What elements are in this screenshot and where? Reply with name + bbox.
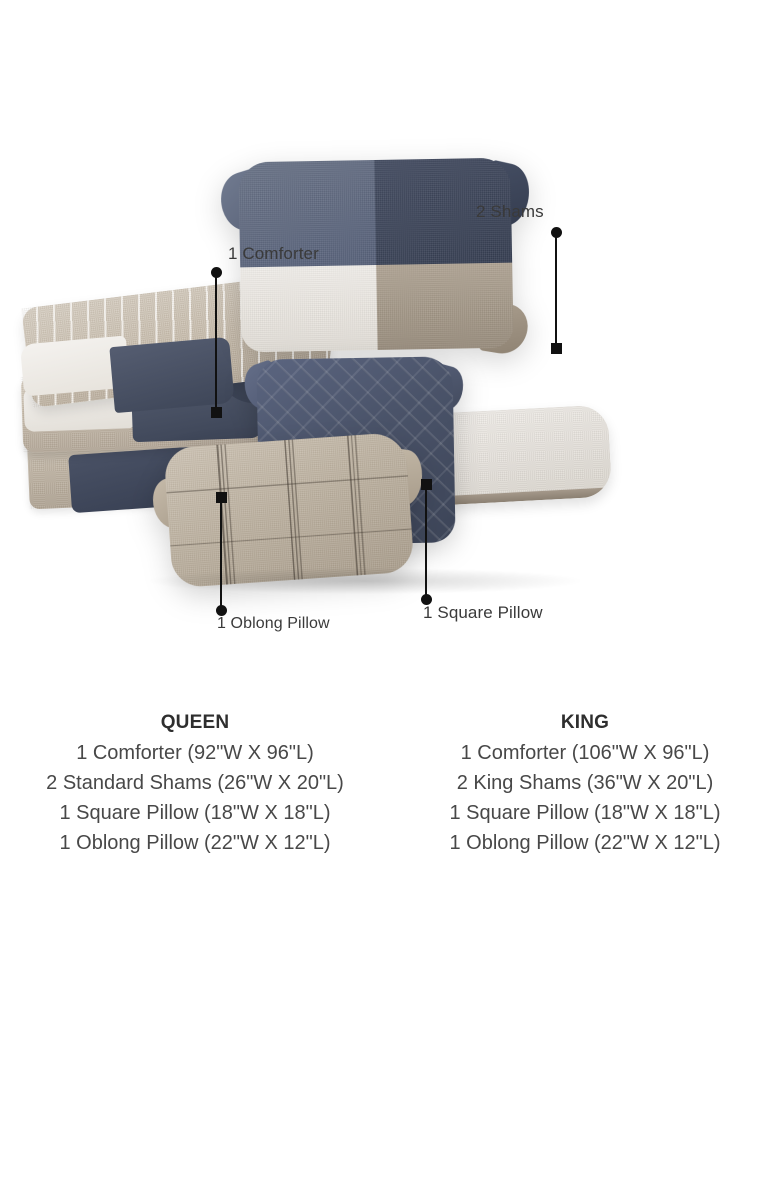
callout-label-comforter: 1 Comforter [228, 244, 319, 264]
leader-line [220, 497, 222, 610]
sham-quadrant-taupe [376, 262, 513, 350]
size-item: 1 Oblong Pillow (22"W X 12"L) [0, 828, 390, 858]
callout-label-shams: 2 Shams [476, 202, 544, 222]
infographic-canvas: 1 Comforter 2 Shams 1 Oblong Pillow 1 Sq… [0, 0, 780, 1196]
size-item: 1 Oblong Pillow (22"W X 12"L) [390, 828, 780, 858]
size-column-queen: QUEEN 1 Comforter (92"W X 96"L) 2 Standa… [0, 712, 390, 858]
callout-label-oblong-pillow: 1 Oblong Pillow [217, 615, 330, 633]
leader-line [555, 232, 557, 348]
callout-square-icon [211, 407, 222, 418]
callout-square-icon [551, 343, 562, 354]
callout-dot-icon [211, 267, 222, 278]
sham-quadrant-cream [240, 264, 377, 352]
windowpane-stripes [163, 432, 414, 589]
size-item: 1 Square Pillow (18"W X 18"L) [390, 798, 780, 828]
size-list-queen: 1 Comforter (92"W X 96"L) 2 Standard Sha… [0, 738, 390, 858]
oblong-pillow [163, 432, 414, 589]
size-item: 1 Square Pillow (18"W X 18"L) [0, 798, 390, 828]
size-item: 2 Standard Shams (26"W X 20"L) [0, 768, 390, 798]
leader-line [215, 272, 217, 412]
product-photo [0, 150, 780, 670]
size-heading-king: KING [390, 712, 780, 734]
size-column-king: KING 1 Comforter (106"W X 96"L) 2 King S… [390, 712, 780, 858]
size-heading-queen: QUEEN [0, 712, 390, 734]
size-list-king: 1 Comforter (106"W X 96"L) 2 King Shams … [390, 738, 780, 858]
callout-dot-icon [551, 227, 562, 238]
size-specifications: QUEEN 1 Comforter (92"W X 96"L) 2 Standa… [0, 712, 780, 858]
size-item: 1 Comforter (106"W X 96"L) [390, 738, 780, 768]
leader-line [425, 484, 427, 599]
callout-square-icon [216, 492, 227, 503]
ground-shadow [150, 568, 580, 594]
callout-square-icon [421, 479, 432, 490]
size-item: 2 King Shams (36"W X 20"L) [390, 768, 780, 798]
callout-label-square-pillow: 1 Square Pillow [423, 603, 543, 623]
size-item: 1 Comforter (92"W X 96"L) [0, 738, 390, 768]
